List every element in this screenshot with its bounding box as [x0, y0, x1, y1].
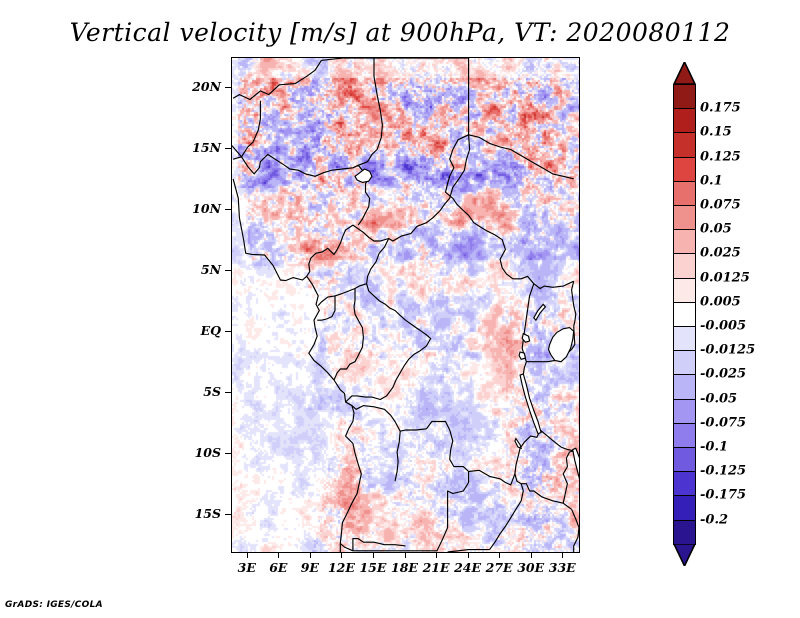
border-line [448, 550, 490, 552]
map-plot-area [231, 57, 580, 553]
chart-canvas: Vertical velocity [m/s] at 900hPa, VT: 2… [0, 0, 800, 618]
longitude-tick [405, 552, 406, 558]
longitude-tick [278, 552, 279, 558]
latitude-tick [225, 514, 231, 515]
colorbar-max-arrow [673, 62, 696, 84]
border-line [572, 509, 579, 552]
colorbar-label: -0.005 [700, 319, 746, 334]
border-line [307, 248, 338, 276]
border-line [395, 431, 400, 481]
longitude-tick [562, 552, 563, 558]
border-line [358, 58, 382, 165]
latitude-tick [225, 453, 231, 454]
latitude-label: 20N [183, 79, 221, 94]
latitude-label: EQ [183, 323, 221, 338]
colorbar-segment [673, 302, 696, 327]
border-line [318, 284, 366, 306]
latitude-label: 10N [183, 201, 221, 216]
longitude-tick [531, 552, 532, 558]
colorbar-segment [673, 399, 696, 424]
colorbar-label: -0.05 [700, 391, 737, 406]
colorbar-label: 0.1 [700, 173, 723, 188]
colorbar-min-arrow [673, 544, 696, 566]
colorbar-segment [673, 253, 696, 278]
colorbar-segment [673, 520, 696, 545]
colorbar-label: -0.2 [700, 512, 728, 527]
border-line [540, 430, 574, 451]
lake-outline [534, 304, 546, 320]
longitude-tick [373, 552, 374, 558]
page-title: Vertical velocity [m/s] at 900hPa, VT: 2… [0, 18, 800, 47]
colorbar-segment [673, 471, 696, 496]
longitude-tick [468, 552, 469, 558]
latitude-label: 5S [183, 384, 221, 399]
border-line [572, 281, 576, 326]
border-line [242, 101, 261, 157]
longitude-tick [436, 552, 437, 558]
lake-outline [520, 374, 541, 434]
longitude-label: 33E [537, 560, 587, 575]
latitude-tick [225, 392, 231, 393]
border-line [317, 296, 335, 320]
colorbar-label: 0.05 [700, 222, 732, 237]
lake-outline [515, 439, 521, 449]
latitude-tick [225, 331, 231, 332]
colorbar-label: 0.075 [700, 198, 741, 213]
border-line [469, 470, 515, 485]
colorbar-segment [673, 229, 696, 254]
colorbar-label: -0.175 [700, 488, 746, 503]
lake-outline [355, 169, 372, 182]
latitude-tick [225, 87, 231, 88]
colorbar-segment [673, 132, 696, 157]
latitude-label: 10S [183, 445, 221, 460]
colorbar-segment [673, 181, 696, 206]
colorbar-segment [673, 157, 696, 182]
colorbar-segment [673, 350, 696, 375]
border-line [233, 60, 321, 99]
border-line [353, 539, 406, 551]
colorbar-segment [673, 278, 696, 303]
colorbar-label: 0.125 [700, 149, 741, 164]
latitude-tick [225, 209, 231, 210]
lake-outline [573, 448, 579, 497]
latitude-label: 15N [183, 140, 221, 155]
border-line [233, 179, 361, 552]
colorbar-segment [673, 495, 696, 520]
colorbar-segment [673, 374, 696, 399]
border-line [367, 239, 406, 321]
longitude-tick [499, 552, 500, 558]
latitude-label: 15S [183, 506, 221, 521]
colorbar-segment [673, 447, 696, 472]
border-line [346, 320, 431, 402]
lake-outline [549, 328, 574, 362]
colorbar-label: -0.075 [700, 415, 746, 430]
colorbar-label: 0.0125 [700, 270, 750, 285]
colorbar-segment [673, 84, 696, 109]
longitude-tick [310, 552, 311, 558]
colorbar-label: -0.125 [700, 464, 746, 479]
colorbar-label: 0.15 [700, 125, 732, 140]
border-line [469, 135, 574, 179]
country-borders-overlay [232, 58, 579, 552]
colorbar-segment [673, 205, 696, 230]
attribution-footer: GrADS: IGES/COLA [5, 600, 103, 610]
longitude-tick [247, 552, 248, 558]
lake-outline [519, 352, 525, 359]
border-line [334, 289, 363, 381]
latitude-tick [225, 148, 231, 149]
colorbar-label: 0.175 [700, 101, 741, 116]
colorbar-segment [673, 423, 696, 448]
colorbar-segment [673, 326, 696, 351]
latitude-label: 5N [183, 262, 221, 277]
colorbar-label: -0.025 [700, 367, 746, 382]
colorbar-label: 0.005 [700, 294, 741, 309]
latitude-tick [225, 270, 231, 271]
border-line [233, 154, 370, 225]
border-line [321, 58, 469, 250]
border-line [563, 451, 574, 503]
colorbar-segment [673, 108, 696, 133]
border-line [232, 146, 242, 157]
border-line [490, 484, 524, 550]
longitude-tick [341, 552, 342, 558]
border-line [346, 402, 469, 472]
colorbar-label: -0.0125 [700, 343, 755, 358]
colorbar-label: -0.1 [700, 440, 728, 455]
colorbar-label: 0.025 [700, 246, 741, 261]
border-line [446, 135, 574, 289]
border-line [515, 284, 572, 510]
colorbar: 0.1750.150.1250.10.0750.050.0250.01250.0… [673, 62, 696, 546]
